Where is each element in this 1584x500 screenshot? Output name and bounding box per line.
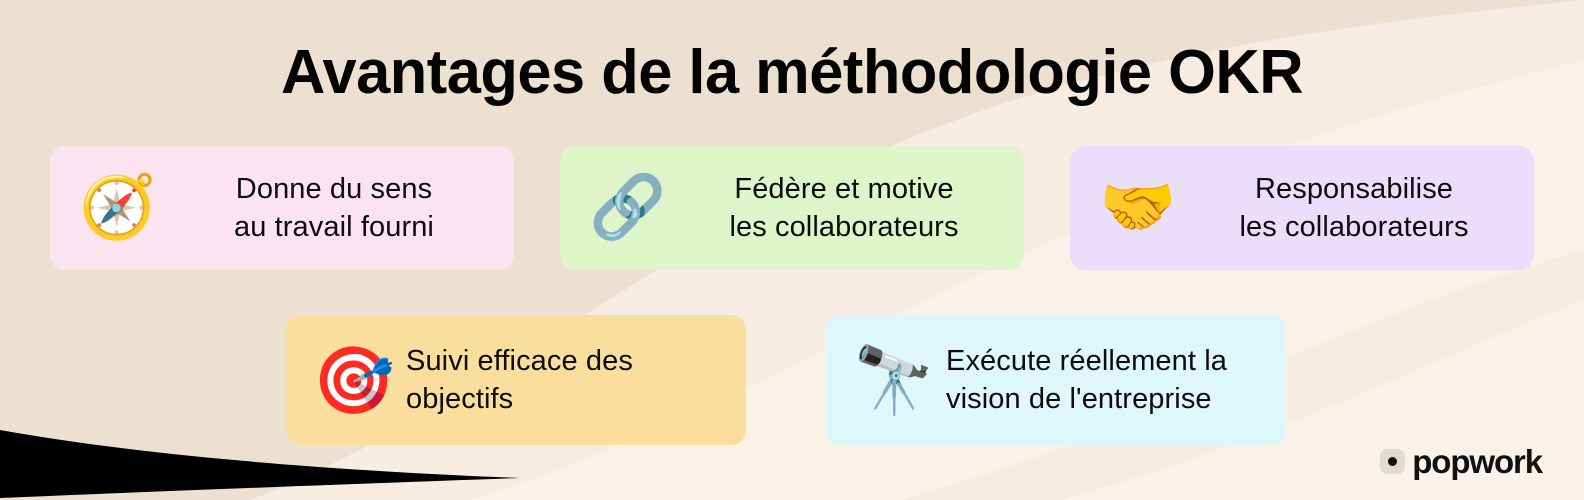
logo-wordmark: popwork: [1412, 445, 1542, 478]
benefit-text-line: Donne du sens: [170, 170, 498, 208]
benefits-row-top: 🧭 Donne du sens au travail fourni 🔗 Fédè…: [50, 146, 1534, 270]
target-dart-icon: 🎯: [302, 347, 406, 413]
compass-icon: 🧭: [66, 177, 170, 239]
dot-square-icon: [1380, 449, 1405, 474]
benefit-text-line: Fédère et motive: [680, 170, 1008, 208]
link-icon: 🔗: [576, 177, 680, 239]
benefit-text-line: Exécute réellement la: [946, 342, 1270, 380]
logo-dot: [1388, 457, 1397, 466]
benefit-card-suivi-efficace[interactable]: 🎯 Suivi efficace des objectifs: [286, 315, 746, 445]
benefit-card-responsabilise[interactable]: 🤝 Responsabilise les collaborateurs: [1070, 146, 1534, 270]
benefit-text-line: au travail fourni: [170, 208, 498, 246]
benefit-card-text: Exécute réellement la vision de l'entrep…: [946, 342, 1270, 419]
benefit-text-line: Suivi efficace des: [406, 342, 730, 380]
benefits-row-bottom: 🎯 Suivi efficace des objectifs 🔭 Exécute…: [286, 315, 1286, 445]
okr-benefits-infographic: Avantages de la méthodologie OKR 🧭 Donne…: [0, 0, 1584, 500]
benefit-card-execute-vision[interactable]: 🔭 Exécute réellement la vision de l'entr…: [826, 315, 1286, 445]
benefit-text-line: objectifs: [406, 380, 730, 418]
benefit-card-text: Fédère et motive les collaborateurs: [680, 170, 1008, 247]
page-title: Avantages de la méthodologie OKR: [8, 42, 1576, 104]
popwork-logo[interactable]: popwork: [1380, 445, 1542, 478]
benefit-card-text: Responsabilise les collaborateurs: [1190, 170, 1518, 247]
benefit-card-federe-et-motive[interactable]: 🔗 Fédère et motive les collaborateurs: [560, 146, 1024, 270]
benefit-text-line: Responsabilise: [1190, 170, 1518, 208]
benefit-text-line: vision de l'entreprise: [946, 380, 1270, 418]
benefit-text-line: les collaborateurs: [1190, 208, 1518, 246]
benefit-card-donne-du-sens[interactable]: 🧭 Donne du sens au travail fourni: [50, 146, 514, 270]
benefit-card-text: Suivi efficace des objectifs: [406, 342, 730, 419]
benefit-text-line: les collaborateurs: [680, 208, 1008, 246]
telescope-icon: 🔭: [842, 347, 946, 413]
benefit-card-text: Donne du sens au travail fourni: [170, 170, 498, 247]
handshake-icon: 🤝: [1086, 177, 1190, 239]
